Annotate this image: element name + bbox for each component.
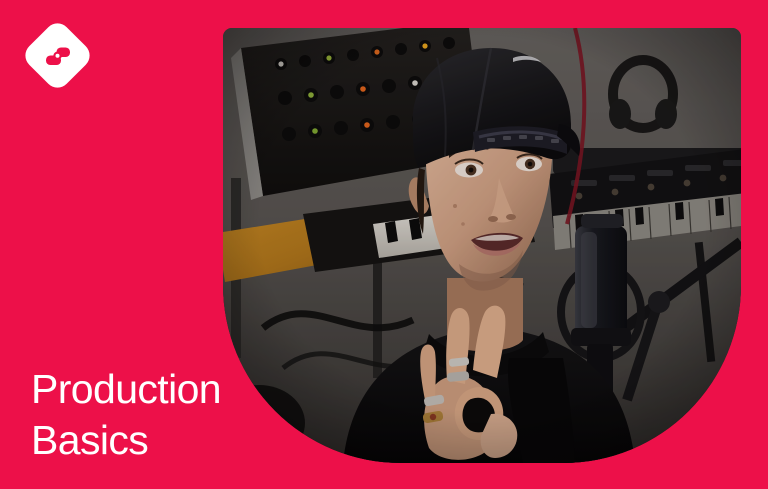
page-title: Production Basics — [31, 364, 351, 466]
title-line-1: Production — [31, 364, 351, 415]
title-line-2: Basics — [31, 415, 351, 466]
course-thumbnail-card: Production Basics — [0, 0, 768, 489]
logo-glyph-icon — [31, 29, 84, 82]
brand-logo[interactable] — [31, 29, 84, 82]
